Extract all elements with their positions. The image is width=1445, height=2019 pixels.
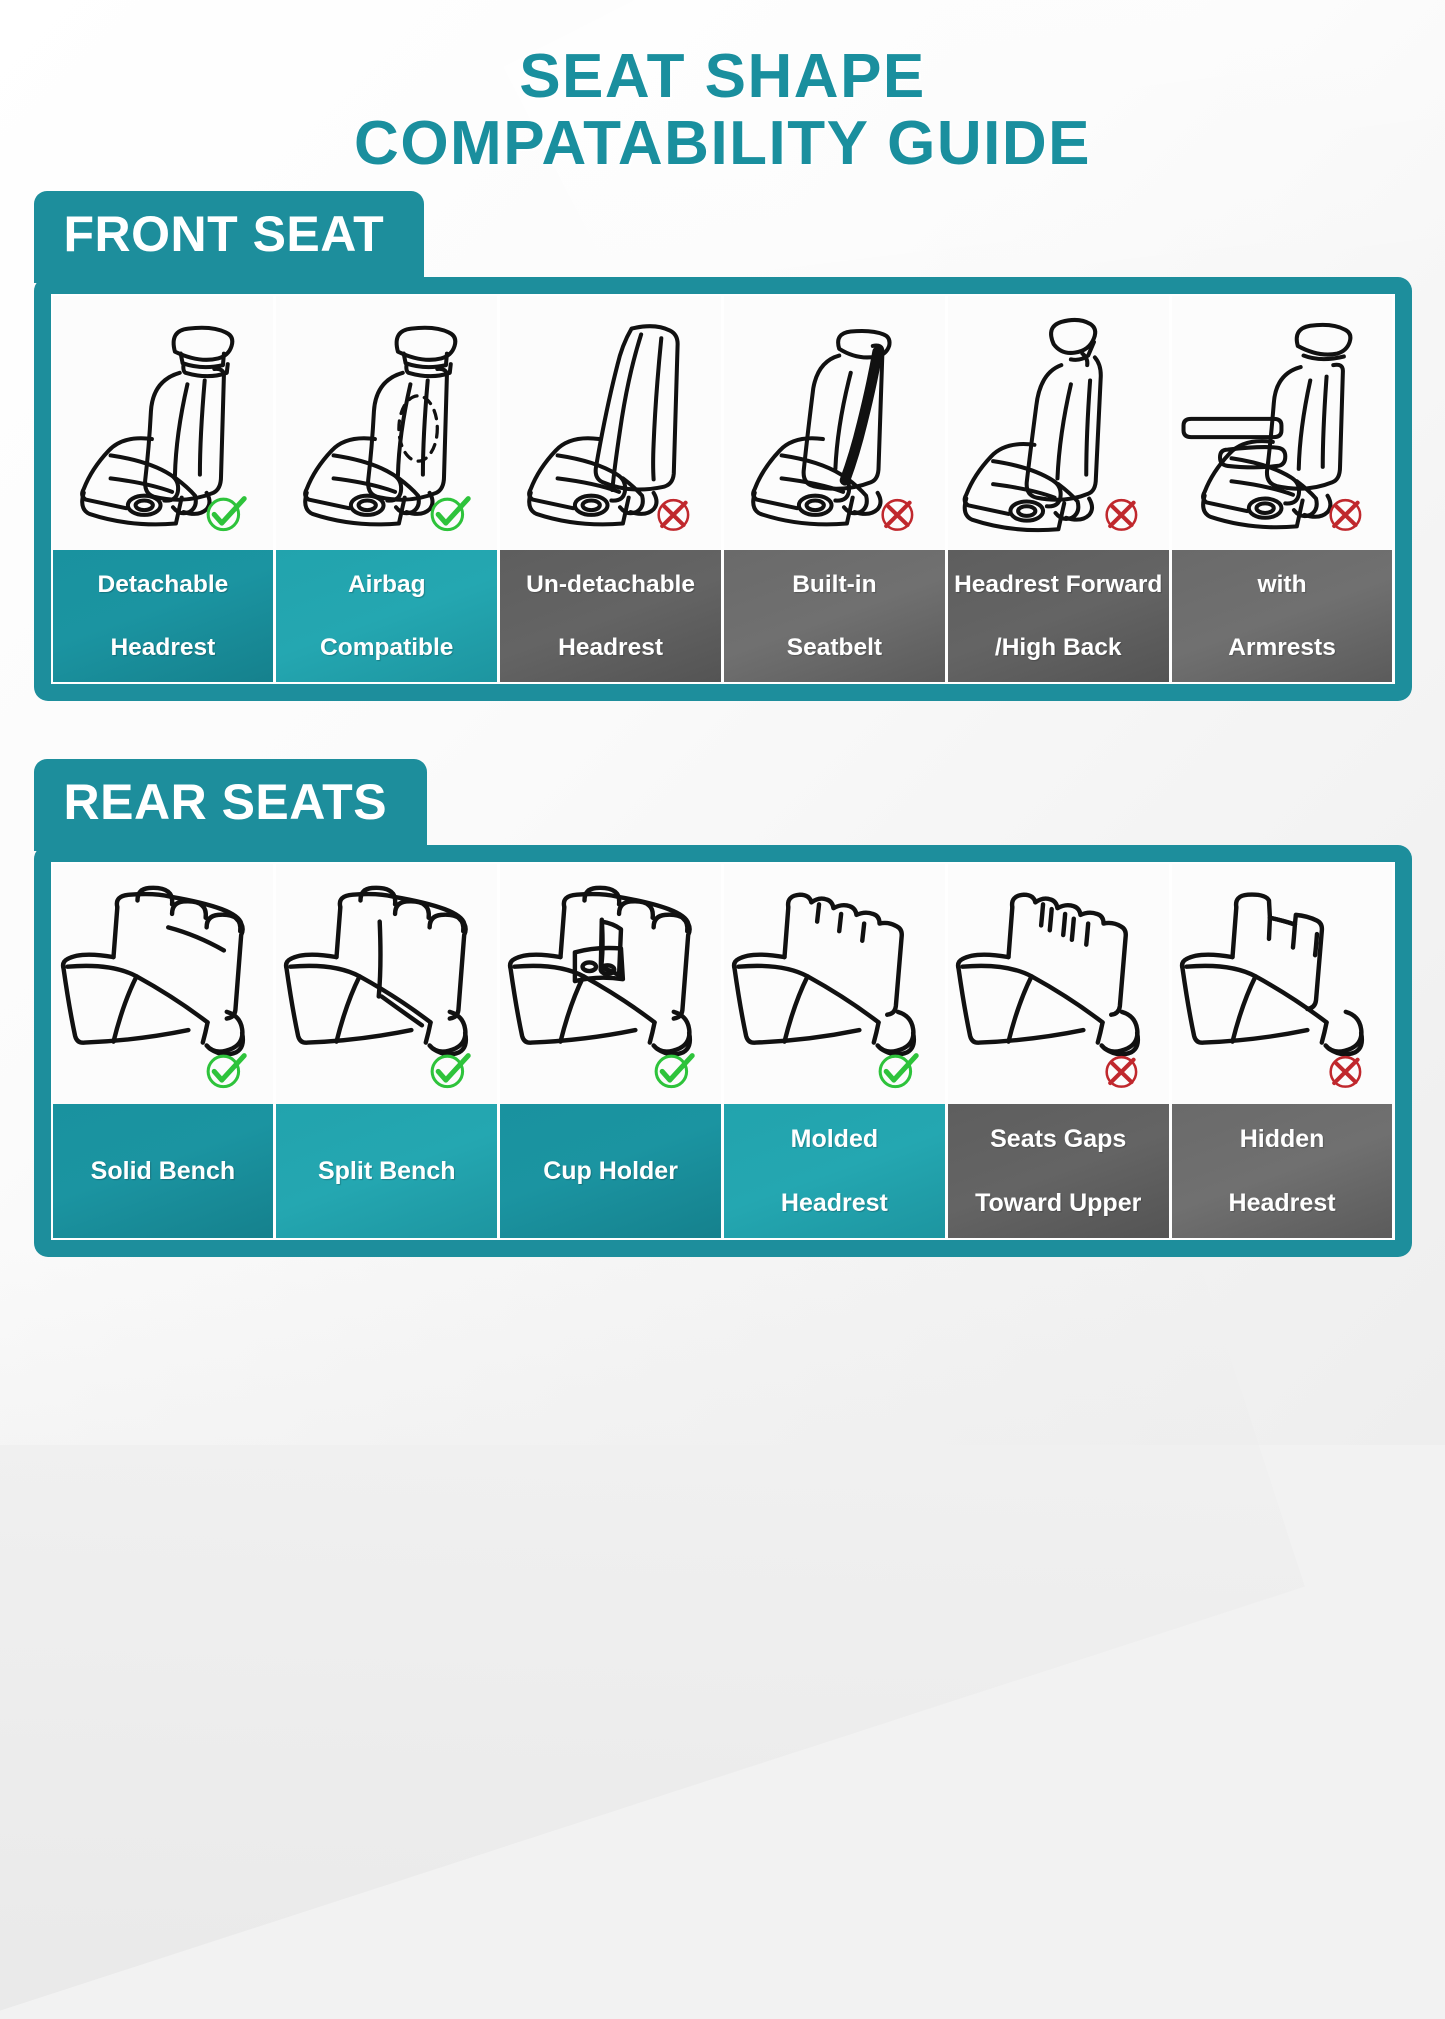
check-circle-icon [872, 1044, 923, 1095]
front-label-undetachable-headrest[interactable]: Un-detachable Headrest [497, 550, 721, 682]
rear-seat-cell-cup-holder[interactable] [497, 864, 721, 1104]
front-seat-cell-builtin-seatbelt[interactable] [721, 296, 945, 550]
check-circle-icon [424, 487, 475, 538]
label-line-1: Hidden [1178, 1123, 1387, 1155]
rear-label-solid-bench[interactable]: Solid Bench [53, 1104, 274, 1238]
label-line-1: Cup Holder [506, 1155, 715, 1187]
rear-seat-cell-molded-headrest[interactable] [721, 864, 945, 1104]
infographic-root: SEAT SHAPE COMPATABILITY GUIDE FRONT SEA… [0, 0, 1445, 1445]
page-title: SEAT SHAPE COMPATABILITY GUIDE [0, 0, 1445, 178]
front-seat-cell-with-armrests[interactable] [1169, 296, 1393, 550]
label-line-2: Headrest [730, 1187, 939, 1219]
cross-circle-icon [648, 487, 699, 538]
label-line-2: Armrests [1178, 632, 1387, 663]
front-label-builtin-seatbelt[interactable]: Built-in Seatbelt [721, 550, 945, 682]
front-seat-tab: FRONT SEAT [34, 191, 425, 283]
check-circle-icon [648, 1044, 699, 1095]
label-line-2: Compatible [282, 632, 491, 663]
rear-seats-section: REAR SEATS [34, 759, 1412, 1257]
front-seat-label-row: Detachable Headrest Airbag Compatible Un… [53, 550, 1393, 682]
check-circle-icon [200, 487, 251, 538]
label-line-1: with [1178, 569, 1387, 600]
rear-label-split-bench[interactable]: Split Bench [273, 1104, 497, 1238]
front-seat-cell-detachable-headrest[interactable] [53, 296, 274, 550]
label-line-1: Un-detachable [506, 569, 715, 600]
label-line-2: Toward Upper [954, 1187, 1163, 1219]
label-line-2: Headrest [506, 632, 715, 663]
split-divider-back [379, 922, 381, 997]
front-seat-cell-undetachable-headrest[interactable] [497, 296, 721, 550]
label-line-2: Headrest [1178, 1187, 1387, 1219]
front-seat-cell-airbag-compatible[interactable] [273, 296, 497, 550]
front-label-detachable-headrest[interactable]: Detachable Headrest [53, 550, 274, 682]
check-circle-icon [424, 1044, 475, 1095]
front-seat-frame-inner: Detachable Headrest Airbag Compatible Un… [51, 294, 1395, 685]
label-line-1: Seats Gaps [954, 1123, 1163, 1155]
cross-circle-icon [872, 487, 923, 538]
front-seat-section: FRONT SEAT [34, 191, 1412, 702]
label-line-1: Solid Bench [59, 1155, 268, 1187]
cross-circle-icon [1096, 487, 1147, 538]
label-line-2: Headrest [59, 632, 268, 663]
rear-label-hidden-headrest[interactable]: Hidden Headrest [1169, 1104, 1393, 1238]
rear-seat-cell-hidden-headrest[interactable] [1169, 864, 1393, 1104]
cross-circle-icon [1320, 1044, 1371, 1095]
front-label-headrest-forward[interactable]: Headrest Forward /High Back [945, 550, 1169, 682]
rear-seats-label-row: Solid Bench Split Bench Cup Holder Molde… [53, 1104, 1393, 1238]
cross-circle-icon [1096, 1044, 1147, 1095]
label-line-1: Airbag [282, 569, 491, 600]
check-circle-icon [200, 1044, 251, 1095]
rear-label-seat-gaps-upper[interactable]: Seats Gaps Toward Upper [945, 1104, 1169, 1238]
front-label-with-armrests[interactable]: with Armrests [1169, 550, 1393, 682]
front-seat-cell-headrest-forward[interactable] [945, 296, 1169, 550]
rear-seat-cell-solid-bench[interactable] [53, 864, 274, 1104]
front-seat-frame: Detachable Headrest Airbag Compatible Un… [34, 277, 1412, 702]
cup-hole-left [583, 963, 596, 972]
front-seat-image-row [53, 296, 1393, 550]
rear-seats-frame-inner: Solid Bench Split Bench Cup Holder Molde… [51, 862, 1395, 1240]
label-line-2: Seatbelt [730, 632, 939, 663]
cross-circle-icon [1320, 487, 1371, 538]
seatbelt-strap [845, 352, 878, 481]
rear-seats-frame: Solid Bench Split Bench Cup Holder Molde… [34, 845, 1412, 1257]
rear-label-molded-headrest[interactable]: Molded Headrest [721, 1104, 945, 1238]
rear-seats-tab: REAR SEATS [34, 759, 428, 851]
label-line-1: Molded [730, 1123, 939, 1155]
rear-seats-image-row [53, 864, 1393, 1104]
rear-seat-cell-split-bench[interactable] [273, 864, 497, 1104]
rear-seat-cell-seat-gaps-upper[interactable] [945, 864, 1169, 1104]
label-line-2: /High Back [954, 632, 1163, 663]
title-line-1: SEAT SHAPE [0, 44, 1445, 111]
label-line-1: Headrest Forward [954, 569, 1163, 600]
label-line-1: Built-in [730, 569, 939, 600]
label-line-1: Detachable [59, 569, 268, 600]
armrest-bar [1183, 419, 1281, 437]
label-line-1: Split Bench [282, 1155, 491, 1187]
title-line-2: COMPATABILITY GUIDE [0, 111, 1445, 178]
rear-label-cup-holder[interactable]: Cup Holder [497, 1104, 721, 1238]
airbag-dashed-oval [399, 396, 437, 461]
front-label-airbag-compatible[interactable]: Airbag Compatible [273, 550, 497, 682]
